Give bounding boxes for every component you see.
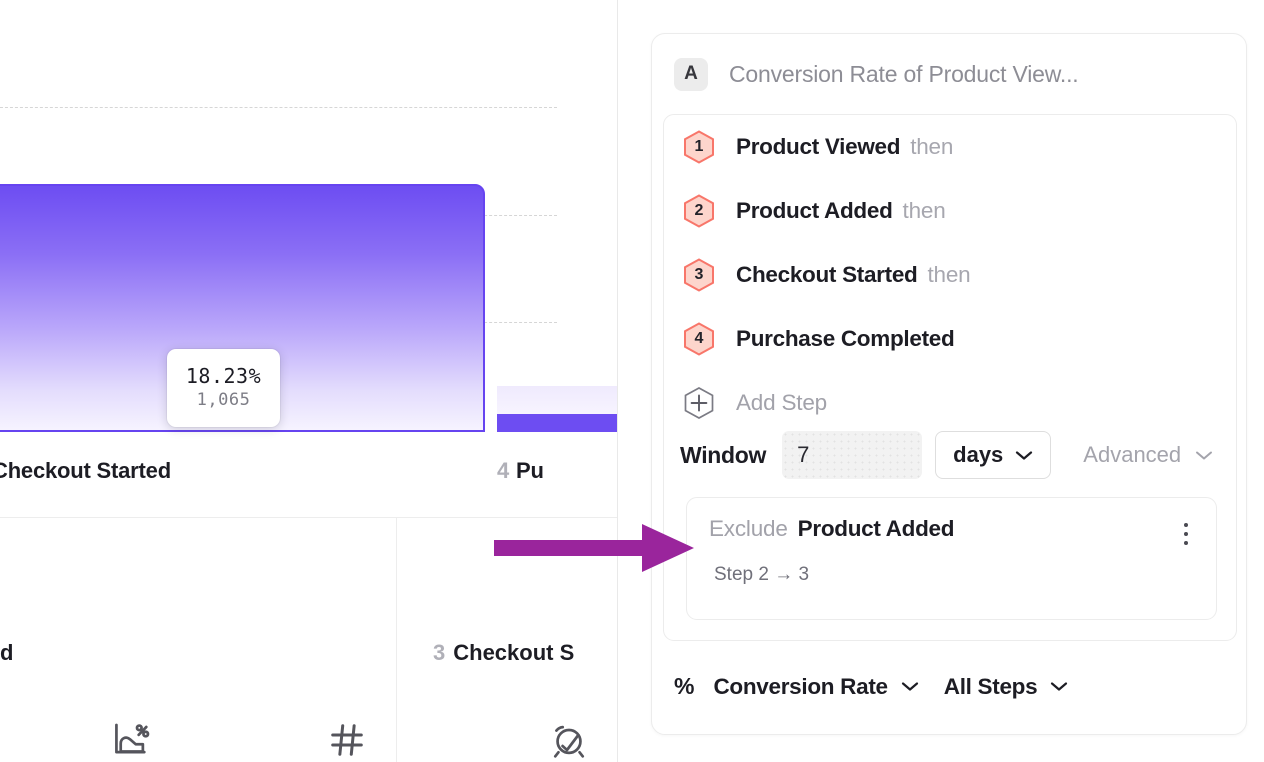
window-label: Window — [680, 442, 766, 469]
query-letter-badge: A — [674, 58, 708, 91]
step-row-1[interactable]: 1 Product Viewed then — [683, 129, 953, 165]
step-number-3: 3 — [683, 258, 715, 292]
scope-label: All Steps — [944, 674, 1038, 700]
x-axis-step4-number: 4 — [497, 458, 509, 483]
chart-tooltip: 18.23% 1,065 — [167, 349, 280, 427]
step-connector-3: then — [927, 262, 970, 288]
exclude-step-range: Step 2 → 3 — [714, 564, 809, 586]
chevron-down-icon — [1050, 681, 1068, 692]
screen-root: 18.23% 1,065 Checkout Started 4Pu d 3Che… — [0, 0, 1264, 762]
exclude-prefix: Exclude — [709, 516, 788, 542]
step-row-3[interactable]: 3 Checkout Started then — [683, 257, 970, 293]
add-step-plus-icon — [683, 386, 715, 420]
scope-select[interactable]: All Steps — [944, 674, 1069, 700]
window-value-input[interactable]: 7 — [782, 431, 922, 479]
step-hexagon-badge-4: 4 — [683, 322, 715, 356]
step-number-2: 2 — [683, 194, 715, 228]
x-axis-label-step4: 4Pu — [497, 458, 544, 484]
query-title[interactable]: Conversion Rate of Product View... — [729, 61, 1078, 88]
bottom-card-right-number: 3 — [433, 640, 445, 665]
kebab-menu-icon[interactable] — [1174, 520, 1198, 548]
bottom-metric-cards: d 3Checkout S — [0, 518, 617, 762]
exclude-header: Exclude Product Added — [709, 516, 1172, 542]
step-hexagon-badge-3: 3 — [683, 258, 715, 292]
query-panel: A Conversion Rate of Product View... 1 P… — [651, 33, 1247, 735]
window-unit-select[interactable]: days — [935, 431, 1051, 479]
step-name-3: Checkout Started — [736, 262, 917, 288]
percent-icon: % — [674, 673, 694, 700]
metric-select[interactable]: Conversion Rate — [713, 674, 918, 700]
bottom-card-left[interactable]: d — [0, 518, 370, 762]
funnel-chart-pane: 18.23% 1,065 Checkout Started 4Pu d 3Che… — [0, 0, 617, 762]
chevron-down-icon — [1015, 450, 1033, 461]
step-name-2: Product Added — [736, 198, 893, 224]
x-axis-label-step3-text: Checkout Started — [0, 458, 171, 483]
hash-icon[interactable] — [327, 720, 367, 762]
tooltip-count: 1,065 — [197, 389, 251, 413]
step-number-4: 4 — [683, 322, 715, 356]
window-row: Window 7 days Advanced — [680, 430, 1213, 480]
funnel-bar-step4-fill[interactable] — [497, 386, 617, 414]
x-axis-label-step3: Checkout Started — [0, 458, 171, 484]
query-header[interactable]: A Conversion Rate of Product View... — [652, 34, 1246, 114]
bottom-card-right-title: 3Checkout S — [433, 640, 574, 666]
step-row-4[interactable]: 4 Purchase Completed — [683, 321, 964, 357]
tooltip-percent: 18.23% — [186, 364, 261, 389]
step-name-4: Purchase Completed — [736, 326, 954, 352]
exclude-filter-card[interactable]: Exclude Product Added Step 2 → 3 — [686, 497, 1217, 620]
query-footer: % Conversion Rate All Steps — [652, 639, 1246, 734]
step-name-1: Product Viewed — [736, 134, 900, 160]
window-value-text: 7 — [797, 442, 809, 468]
metric-label: Conversion Rate — [713, 674, 887, 700]
gridline — [0, 107, 557, 108]
step-row-2[interactable]: 2 Product Added then — [683, 193, 946, 229]
funnel-bar-base-step4 — [497, 414, 617, 432]
chart-x-axis: Checkout Started 4Pu — [0, 458, 617, 498]
chevron-down-icon — [1195, 450, 1213, 461]
window-unit-label: days — [953, 442, 1003, 468]
step-hexagon-badge-2: 2 — [683, 194, 715, 228]
step-connector-1: then — [910, 134, 953, 160]
query-builder-pane: A Conversion Rate of Product View... 1 P… — [618, 0, 1264, 762]
step-connector-2: then — [903, 198, 946, 224]
add-step-label: Add Step — [736, 390, 827, 416]
funnel-percent-icon[interactable] — [110, 720, 150, 762]
x-axis-label-step4-text: Pu — [516, 458, 544, 483]
advanced-button[interactable]: Advanced — [1083, 431, 1213, 479]
step-hexagon-badge-1: 1 — [683, 130, 715, 164]
bottom-card-left-title: d — [0, 640, 13, 666]
step-number-1: 1 — [683, 130, 715, 164]
funnel-chart-canvas[interactable]: 18.23% 1,065 — [0, 0, 617, 505]
add-step-button[interactable]: Add Step — [683, 385, 827, 421]
exclude-event-name: Product Added — [798, 516, 955, 542]
advanced-label: Advanced — [1083, 442, 1181, 468]
alarm-check-icon[interactable] — [549, 720, 589, 762]
chevron-down-icon — [901, 681, 919, 692]
bottom-card-right-label: Checkout S — [453, 640, 574, 665]
steps-card: 1 Product Viewed then 2 Product Added th… — [663, 114, 1237, 641]
